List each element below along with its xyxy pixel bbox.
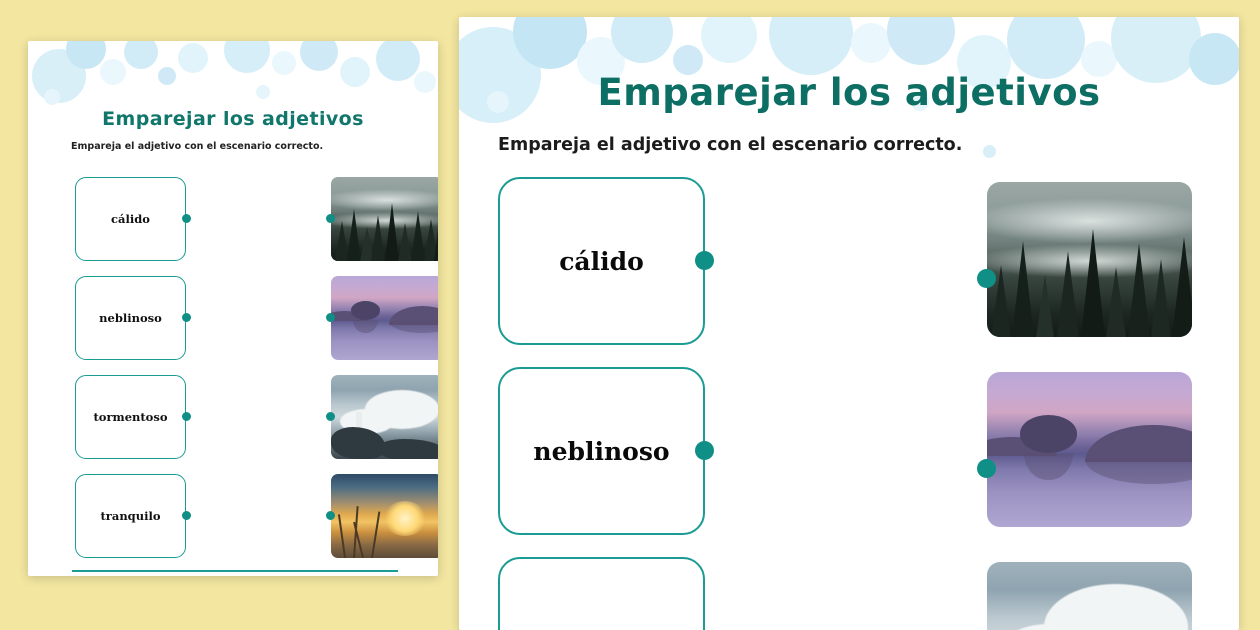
connector-dot-left[interactable] [182,511,191,520]
sunset-reeds-photo[interactable] [331,474,438,558]
bubble-icon [1007,17,1085,79]
bubble-icon [414,71,436,93]
adjective-card[interactable]: tormentoso [75,375,186,459]
connector-dot-left[interactable] [182,412,191,421]
bubble-icon [851,23,891,63]
stormy-sea-photo[interactable] [987,562,1192,630]
bubble-icon [887,17,955,65]
connector-dot-right[interactable] [326,511,335,520]
bubble-icon [983,145,996,158]
connector-dot-left[interactable] [695,251,714,270]
connector-dot-right[interactable] [977,269,996,288]
adjective-card[interactable]: tranquilo [75,474,186,558]
bubble-icon [300,41,338,71]
bubble-icon [124,41,158,69]
bubble-icon [701,17,757,63]
bubble-icon [376,41,420,81]
connector-dot-right[interactable] [326,313,335,322]
bubble-icon [256,85,270,99]
bubble-icon [769,17,853,75]
worksheet-preview-stage: Emparejar los adjetivos Empareja el adje… [0,0,1260,630]
bubble-icon [178,43,208,73]
adjective-card[interactable]: cálido [498,177,705,345]
bubble-icon [340,57,370,87]
connector-dot-right[interactable] [326,412,335,421]
page-title: Emparejar los adjetivos [459,71,1239,114]
bubble-icon [44,89,60,105]
connector-dot-left[interactable] [182,214,191,223]
twinkl-badge-icon [379,575,417,576]
adjective-card[interactable]: neblinoso [75,276,186,360]
bubble-icon [158,67,176,85]
adjective-card[interactable]: neblinoso [498,367,705,535]
bubble-icon [100,59,126,85]
adjective-card[interactable]: cálido [75,177,186,261]
stormy-sea-photo[interactable] [331,375,438,459]
page-title: Emparejar los adjetivos [28,108,438,130]
connector-dot-right[interactable] [977,459,996,478]
page-subtitle: Empareja el adjetivo con el escenario co… [71,141,323,152]
adjective-card[interactable] [498,557,705,630]
bubble-icon [224,41,270,73]
main-worksheet-page[interactable]: Emparejar los adjetivos Empareja el adje… [459,17,1239,630]
purple-lake-photo[interactable] [987,372,1192,527]
page-subtitle: Empareja el adjetivo con el escenario co… [498,135,962,155]
bubble-icon [272,51,296,75]
footer-divider [72,570,398,572]
misty-forest-photo[interactable] [987,182,1192,337]
thumbnail-worksheet-page[interactable]: Emparejar los adjetivos Empareja el adje… [28,41,438,576]
connector-dot-left[interactable] [695,441,714,460]
connector-dot-left[interactable] [182,313,191,322]
connector-dot-right[interactable] [326,214,335,223]
misty-forest-photo[interactable] [331,177,438,261]
purple-lake-photo[interactable] [331,276,438,360]
